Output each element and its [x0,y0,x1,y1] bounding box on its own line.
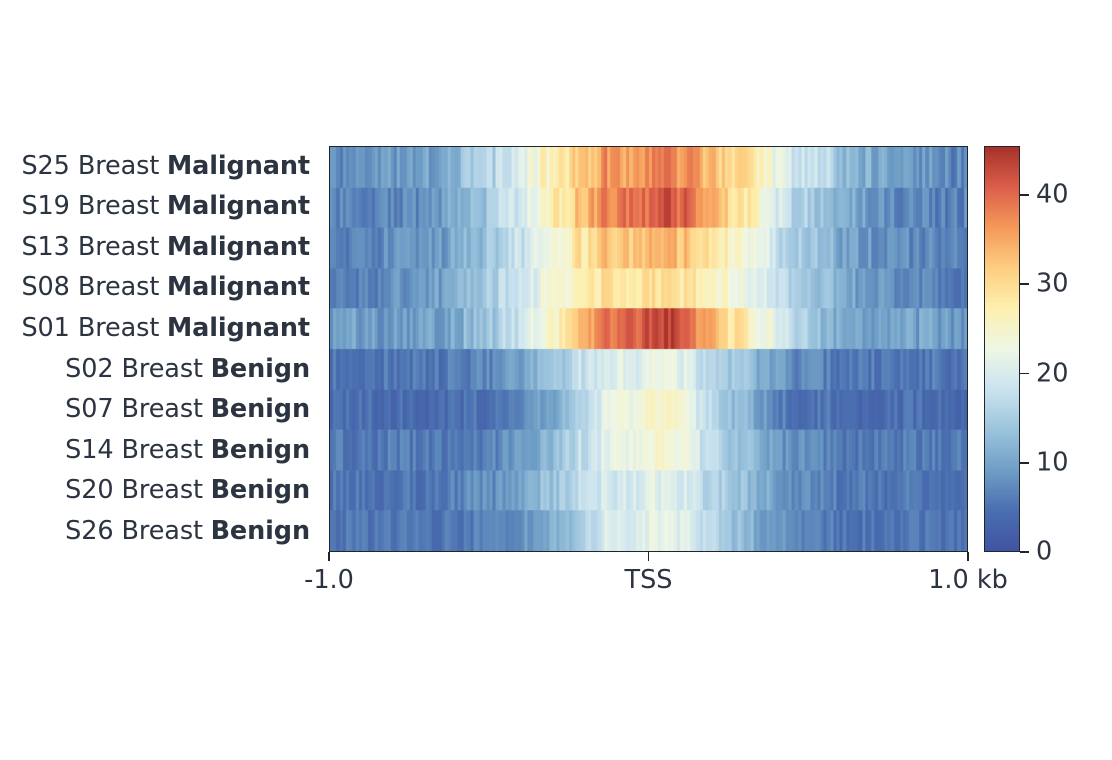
row-label-class: Benign [211,438,310,464]
row-label-s01: S01 BreastMalignant [0,308,318,349]
row-label-sample: S13 [21,235,69,261]
row-label-sample: S26 [65,519,113,545]
x-tick-label-1: TSS [625,568,673,594]
row-label-sample: S01 [21,316,69,342]
colorbar: 010203040 [984,146,1020,552]
row-label-tissue: Breast [70,235,159,261]
row-label-tissue: Breast [114,478,203,504]
x-axis: -1.0TSS1.0 kb [329,552,968,612]
row-label-s20: S20 BreastBenign [0,471,318,512]
x-tick-label-2: 1.0 kb [928,568,1008,594]
row-label-sample: S02 [65,357,113,383]
row-label-class: Malignant [167,235,310,261]
row-label-s14: S14 BreastBenign [0,430,318,471]
colorbar-tick-4 [1020,194,1029,196]
row-label-tissue: Breast [114,397,203,423]
row-label-class: Benign [211,357,310,383]
row-label-s26: S26 BreastBenign [0,511,318,552]
colorbar-tick-label-3: 30 [1036,272,1068,298]
colorbar-image [985,147,1019,551]
colorbar-tick-label-1: 10 [1036,450,1068,476]
row-label-tissue: Breast [114,357,203,383]
row-label-sample: S19 [21,194,69,220]
row-label-class: Malignant [167,194,310,220]
row-label-tissue: Breast [70,154,159,180]
row-label-s02: S02 BreastBenign [0,349,318,390]
heatmap-figure: S25 BreastMalignantS19 BreastMalignantS1… [0,0,1112,760]
heatmap-panel [329,146,968,552]
colorbar-tick-3 [1020,283,1029,285]
row-label-class: Benign [211,397,310,423]
row-label-tissue: Breast [70,194,159,220]
row-label-sample: S20 [65,478,113,504]
row-label-class: Benign [211,478,310,504]
colorbar-gradient [984,146,1020,552]
x-tick-2 [967,552,969,561]
colorbar-tick-1 [1020,462,1029,464]
row-label-class: Malignant [167,275,310,301]
colorbar-tick-label-2: 20 [1036,361,1068,387]
row-label-sample: S08 [21,275,69,301]
x-tick-1 [648,552,650,561]
row-label-class: Benign [211,519,310,545]
row-label-s25: S25 BreastMalignant [0,146,318,187]
row-label-sample: S14 [65,438,113,464]
row-label-s13: S13 BreastMalignant [0,227,318,268]
row-label-s19: S19 BreastMalignant [0,187,318,228]
row-label-s08: S08 BreastMalignant [0,268,318,309]
x-tick-label-0: -1.0 [304,568,354,594]
row-label-class: Malignant [167,316,310,342]
heatmap-image [330,147,967,551]
x-tick-0 [328,552,330,561]
colorbar-tick-2 [1020,373,1029,375]
row-label-axis: S25 BreastMalignantS19 BreastMalignantS1… [0,146,318,552]
row-label-sample: S25 [21,154,69,180]
row-label-sample: S07 [65,397,113,423]
colorbar-tick-0 [1020,551,1029,553]
row-label-tissue: Breast [114,519,203,545]
colorbar-tick-label-4: 40 [1036,182,1068,208]
row-label-class: Malignant [167,154,310,180]
colorbar-tick-label-0: 0 [1036,539,1052,565]
row-label-s07: S07 BreastBenign [0,390,318,431]
row-label-tissue: Breast [70,275,159,301]
row-label-tissue: Breast [114,438,203,464]
row-label-tissue: Breast [70,316,159,342]
